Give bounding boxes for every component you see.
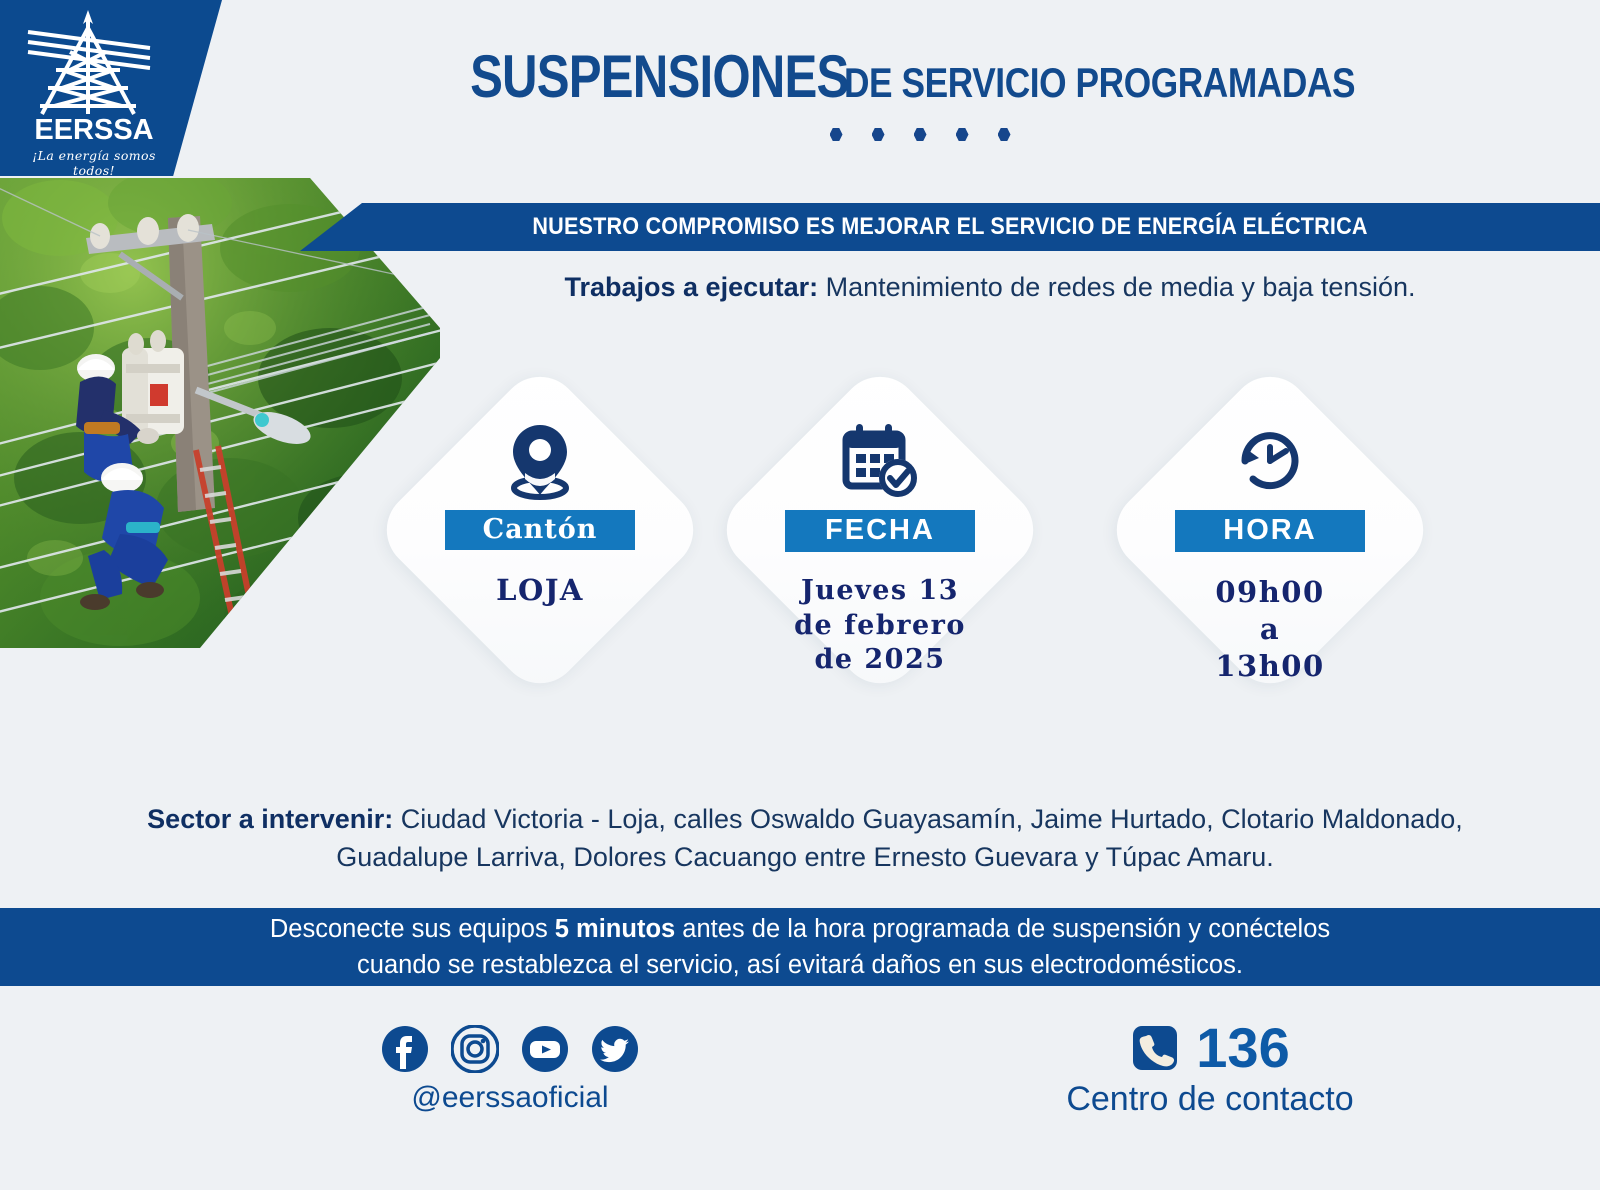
contact-block: 136 Centro de contacto xyxy=(960,1020,1460,1119)
title-main: SUSPENSIONES xyxy=(470,42,848,111)
social-handle[interactable]: @eerssaoficial xyxy=(300,1081,720,1115)
eerssa-logo-panel: EERSSA ¡La energía somos todos! xyxy=(0,0,222,176)
card-value-line: de 2025 xyxy=(794,643,966,678)
calendar-check-icon xyxy=(840,422,920,500)
works-line: Trabajos a ejecutar: Mantenimiento de re… xyxy=(380,272,1600,303)
commitment-banner: NUESTRO COMPROMISO ES MEJORAR EL SERVICI… xyxy=(300,203,1600,251)
card-value-line: a xyxy=(1215,611,1324,648)
notice-part-after: antes de la hora programada de suspensió… xyxy=(675,915,1330,943)
card-value-line: 13h00 xyxy=(1215,648,1324,685)
location-pin-icon xyxy=(503,422,577,500)
card-value-fecha: Jueves 13 de febrero de 2025 xyxy=(794,574,966,678)
decorative-dots xyxy=(240,128,1600,141)
dot-icon xyxy=(914,128,927,141)
card-value-line: de febrero xyxy=(794,609,966,644)
sector-label: Sector a intervenir: xyxy=(147,804,393,834)
notice-part-before: Desconecte sus equipos xyxy=(270,915,555,943)
card-value-line: 09h00 xyxy=(1215,574,1324,611)
twitter-icon[interactable] xyxy=(591,1025,639,1073)
notice-bold: 5 minutos xyxy=(555,915,675,943)
dot-icon xyxy=(872,128,885,141)
sector-line-1: Ciudad Victoria - Loja, calles Oswaldo G… xyxy=(401,804,1463,834)
instagram-icon[interactable] xyxy=(451,1025,499,1073)
commitment-banner-text: NUESTRO COMPROMISO ES MEJORAR EL SERVICI… xyxy=(532,213,1367,241)
logo-tagline: ¡La energía somos todos! xyxy=(18,148,170,178)
card-value-hora: 09h00 a 13h00 xyxy=(1215,574,1324,685)
title-sub: DE SERVICIO PROGRAMADAS xyxy=(844,59,1355,107)
social-block: @eerssaoficial xyxy=(300,1025,720,1115)
suspension-notice-poster: EERSSA ¡La energía somos todos! SUSPENSI… xyxy=(0,0,1600,1190)
info-card-hora: HORA 09h00 a 13h00 xyxy=(1100,360,1440,700)
info-card-fecha: FECHA Jueves 13 de febrero de 2025 xyxy=(710,360,1050,700)
card-badge-canton: Cantón xyxy=(445,510,635,550)
sector-line-2: Guadalupe Larriva, Dolores Cacuango entr… xyxy=(336,842,1274,872)
notice-band: Desconecte sus equipos 5 minutos antes d… xyxy=(0,908,1600,986)
card-value-line: Jueves 13 xyxy=(794,574,966,609)
dot-icon xyxy=(830,128,843,141)
works-label: Trabajos a ejecutar: xyxy=(564,272,818,302)
dot-icon xyxy=(956,128,969,141)
info-card-canton: Cantón LOJA xyxy=(370,360,710,700)
card-badge-hora: HORA xyxy=(1175,510,1365,552)
sector-text: Sector a intervenir: Ciudad Victoria - L… xyxy=(90,800,1520,877)
facebook-icon[interactable] xyxy=(381,1025,429,1073)
card-value-line: LOJA xyxy=(496,572,584,609)
info-cards: Cantón LOJA xyxy=(370,360,1570,760)
phone-icon[interactable] xyxy=(1130,1023,1180,1073)
card-badge-fecha: FECHA xyxy=(785,510,975,552)
youtube-icon[interactable] xyxy=(521,1025,569,1073)
card-value-canton: LOJA xyxy=(496,572,584,609)
page-title: SUSPENSIONESDE SERVICIO PROGRAMADAS xyxy=(240,42,1600,111)
logo-wordmark: EERSSA xyxy=(24,116,164,145)
electric-tower-icon xyxy=(26,10,160,122)
dot-icon xyxy=(998,128,1011,141)
notice-line-2: cuando se restablezca el servicio, así e… xyxy=(357,947,1243,983)
notice-line-1: Desconecte sus equipos 5 minutos antes d… xyxy=(270,911,1330,947)
works-value: Mantenimiento de redes de media y baja t… xyxy=(826,272,1416,302)
contact-phone-number: 136 xyxy=(1196,1020,1289,1076)
clock-history-icon xyxy=(1231,422,1309,500)
contact-label: Centro de contacto xyxy=(960,1080,1460,1119)
